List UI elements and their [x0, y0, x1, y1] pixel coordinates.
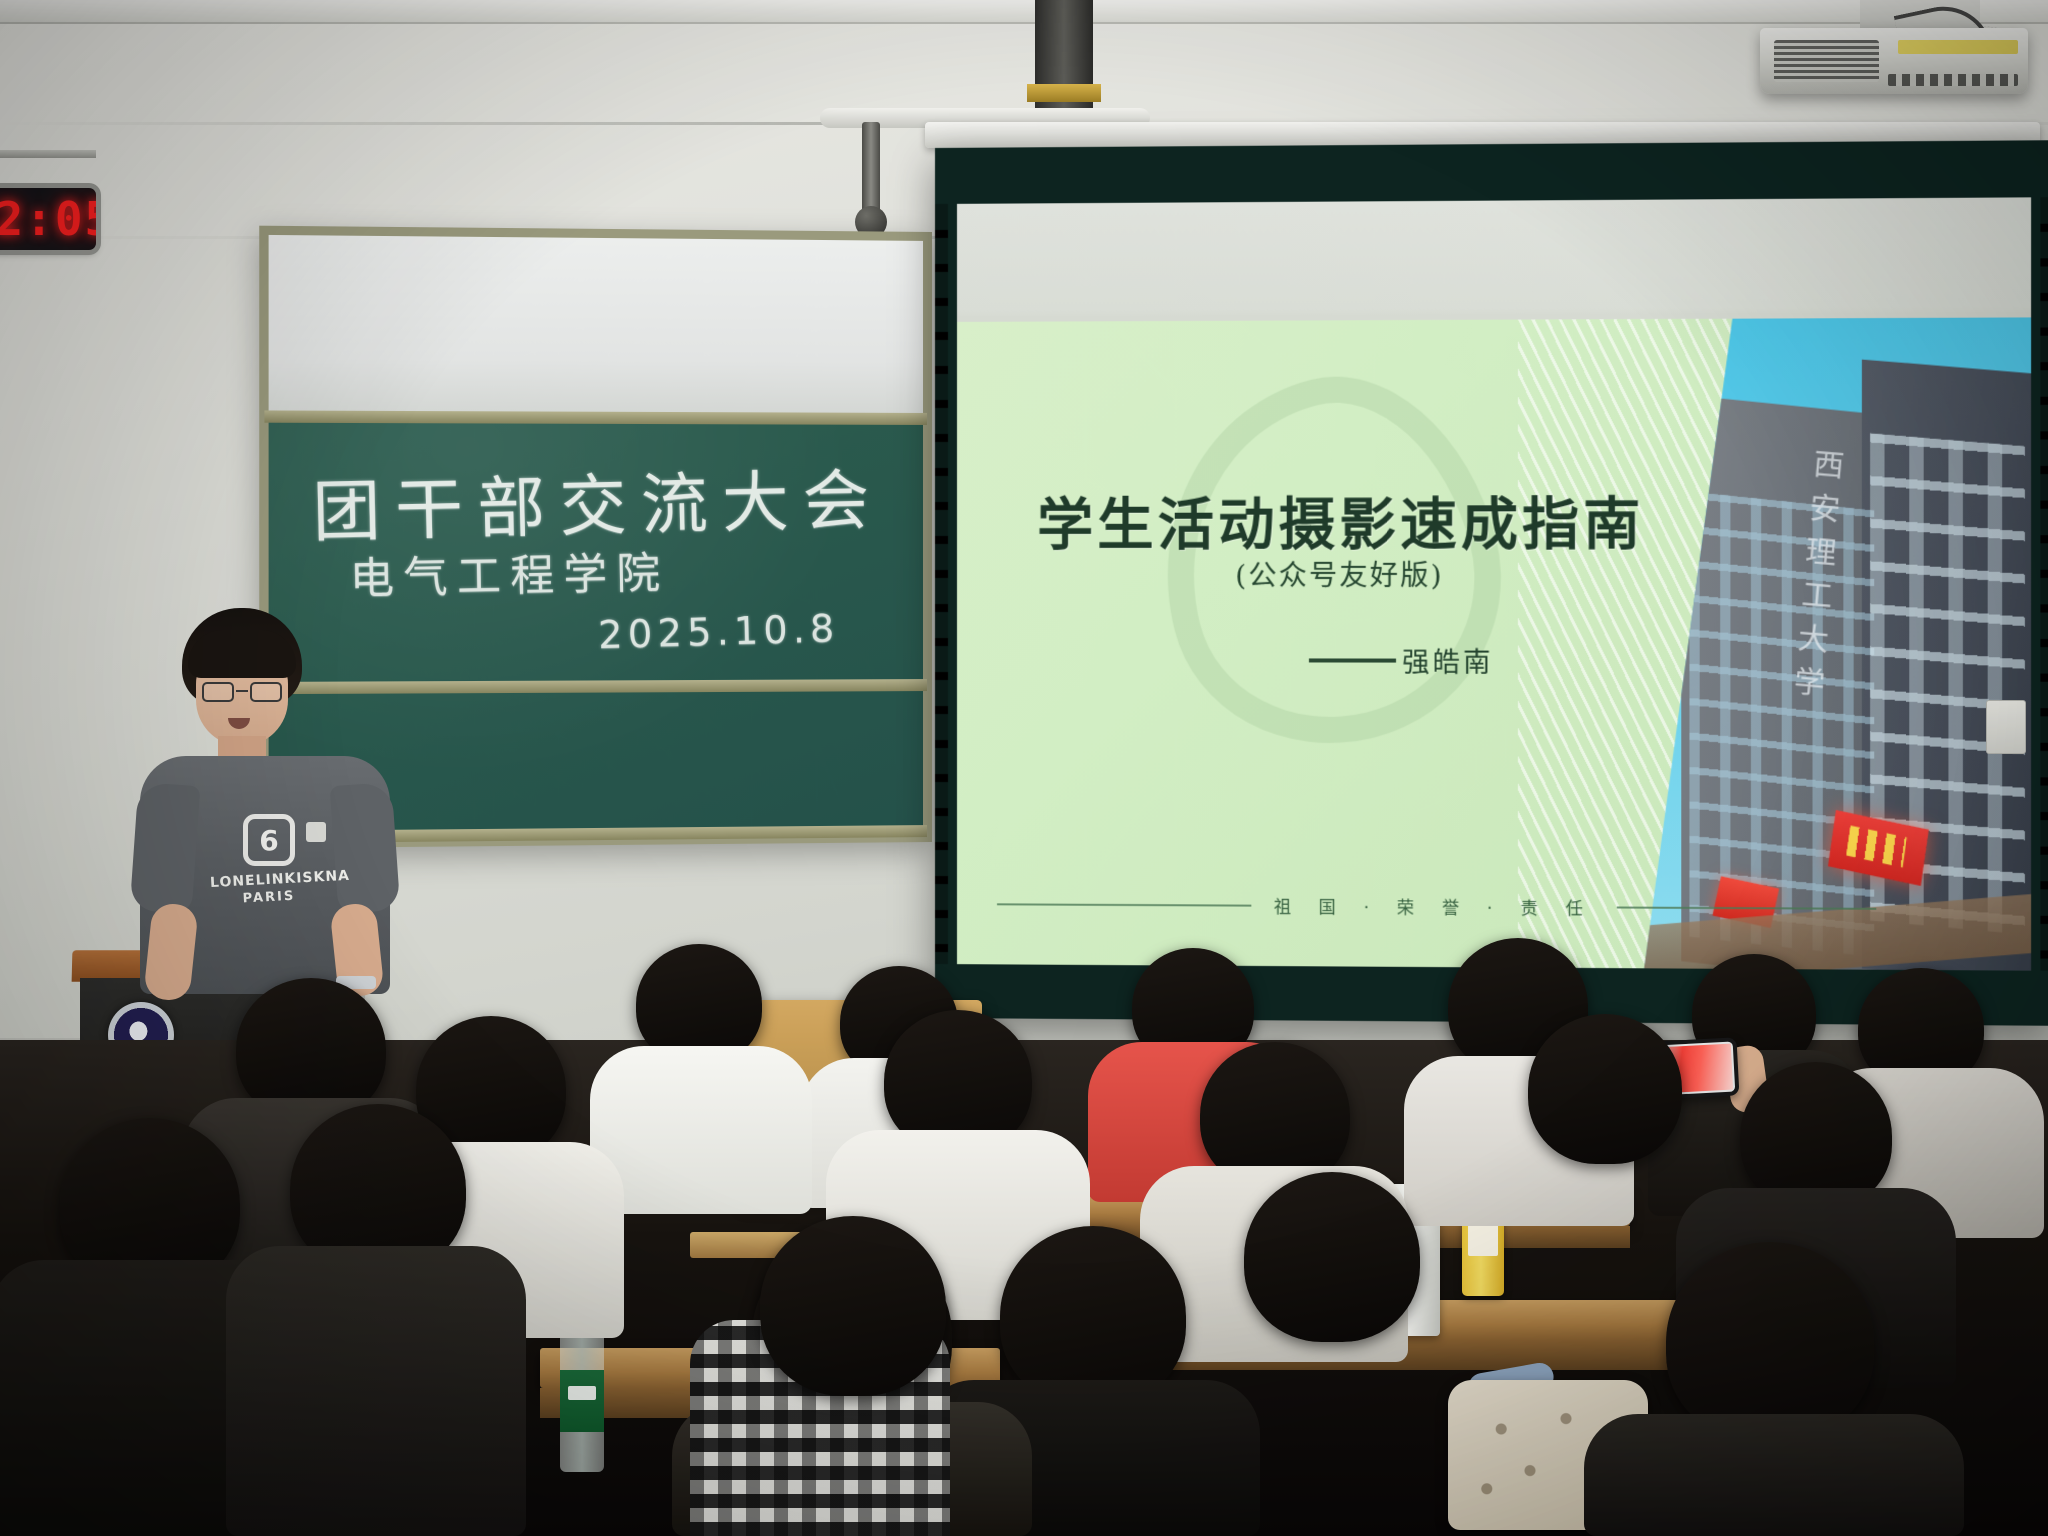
- projection-screen-surface: 西安理工大学 学生活动摄影速成指南 (公众号友好版) 强皓南 祖 国 · 荣 誉…: [957, 197, 2031, 970]
- led-wall-clock: 42:05: [0, 188, 96, 250]
- presenter-fringe: [188, 630, 296, 678]
- chalkboard-date: 2025.10.8: [598, 606, 840, 657]
- clock-digits: 42:05: [0, 192, 96, 246]
- ceiling-rail: [0, 0, 2048, 24]
- footer-rule-right: [1617, 906, 1877, 909]
- audience-head: [760, 1216, 946, 1396]
- presenter: 6 LONELINKISKNA PARIS: [140, 608, 390, 988]
- slide-footer-motto: 祖 国 · 荣 誉 · 责 任: [1274, 893, 1594, 920]
- clock-bracket: [0, 150, 96, 158]
- screen-tension-tabs-right: [2040, 197, 2048, 971]
- presenter-sleeve-right: [330, 782, 401, 914]
- tshirt-graphic: 6 LONELINKISKNA PARIS: [210, 814, 328, 910]
- glasses-lens-right: [250, 682, 282, 702]
- projector-vent-grille: [1774, 40, 1879, 82]
- slide-title: 学生活动摄影速成指南: [1027, 479, 1655, 561]
- slide-footer: 祖 国 · 荣 誉 · 责 任: [997, 891, 1876, 921]
- glasses-bridge: [236, 690, 248, 692]
- audience-head: [1244, 1172, 1420, 1342]
- lecture-hall-photo: 42:05 团干部交流大会 电气工程学院 2025.10.8: [0, 0, 2048, 1536]
- chalkboard-ledge-upper: [264, 410, 927, 425]
- audience-body: [1584, 1414, 1964, 1536]
- footer-rule-left: [997, 903, 1252, 906]
- chalkboard-organization: 电气工程学院: [349, 538, 670, 607]
- audience-body: [226, 1246, 526, 1536]
- audience-head: [1528, 1014, 1682, 1164]
- projection-screen-frame: 西安理工大学 学生活动摄影速成指南 (公众号友好版) 强皓南 祖 国 · 荣 誉…: [935, 140, 2048, 1026]
- slide-author-block: 强皓南: [1309, 640, 1494, 680]
- tshirt-logo-tag-icon: [306, 822, 326, 842]
- ceiling-projector: [1760, 28, 2028, 94]
- audience-head: [1000, 1226, 1186, 1406]
- water-bottle-label: [560, 1370, 604, 1432]
- screen-tension-tabs-left: [935, 204, 948, 964]
- wall-power-socket: [1986, 700, 2026, 754]
- audience-head: [1666, 1242, 1874, 1442]
- glasses-icon: [202, 682, 282, 702]
- slide-author-name: 强皓南: [1402, 640, 1493, 679]
- projector-port-panel: [1888, 74, 2018, 86]
- slide-subtitle: (公众号友好版): [1027, 554, 1655, 594]
- photo-windows-left: [1689, 491, 1874, 957]
- hanging-rod-tip: [1027, 84, 1101, 102]
- bottle-label: [1468, 1222, 1498, 1256]
- glasses-lens-left: [202, 682, 234, 702]
- tshirt-logo-number: 6: [243, 814, 295, 866]
- author-dash-rule: [1309, 658, 1396, 662]
- presenter-sleeve-left: [130, 782, 201, 914]
- whiteboard-sliding-panel: [269, 235, 923, 423]
- presentation-slide: 西安理工大学 学生活动摄影速成指南 (公众号友好版) 强皓南 祖 国 · 荣 誉…: [957, 317, 2031, 970]
- projector-label-strip: [1898, 40, 2018, 54]
